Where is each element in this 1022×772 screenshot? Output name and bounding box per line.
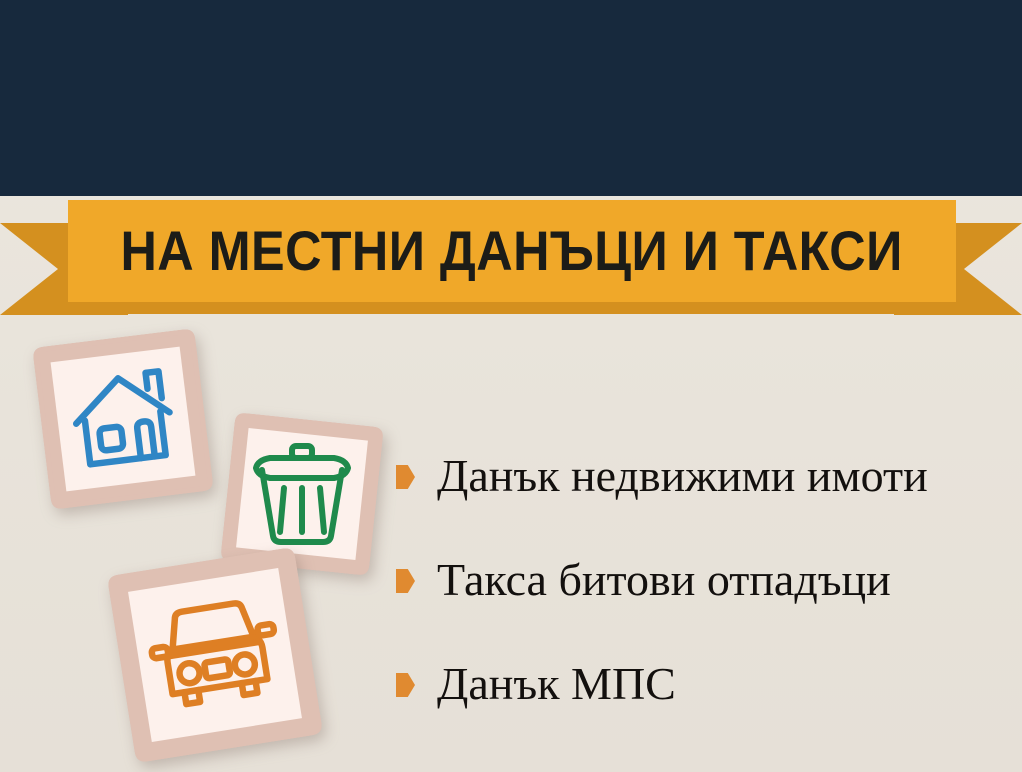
list-item-label: Данък МПС (437, 658, 676, 710)
list-item[interactable]: Данък недвижими имоти (396, 424, 1016, 528)
stamp-card-group (0, 300, 430, 772)
arrow-bullet-icon (396, 673, 415, 697)
ribbon-shadow (74, 300, 954, 314)
list-item[interactable]: Данък МПС (396, 632, 1016, 736)
header-bar (0, 0, 1022, 196)
stamp-card-car (95, 535, 335, 772)
arrow-bullet-icon (396, 465, 415, 489)
arrow-bullet-icon (396, 569, 415, 593)
list-item[interactable]: Такса битови отпадъци (396, 528, 1016, 632)
tax-type-list: Данък недвижими имоти Такса битови отпад… (396, 424, 1016, 736)
ribbon-banner: НА МЕСТНИ ДАНЪЦИ И ТАКСИ (0, 196, 1022, 316)
list-item-label: Данък недвижими имоти (437, 450, 928, 502)
poster-root: община ЕЛИН ПЕЛИН ПРОВЕРКА И ПЛА (0, 0, 1022, 772)
list-item-label: Такса битови отпадъци (437, 554, 891, 606)
ribbon-label: НА МЕСТНИ ДАНЪЦИ И ТАКСИ (121, 222, 903, 280)
ribbon-main-panel: НА МЕСТНИ ДАНЪЦИ И ТАКСИ (68, 200, 956, 302)
